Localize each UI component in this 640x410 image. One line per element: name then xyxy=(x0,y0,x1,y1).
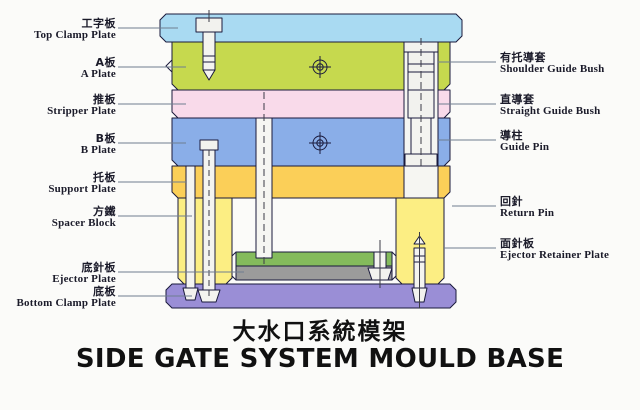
label-cn: 有托導套 xyxy=(500,52,640,63)
label-shoulder-guide-bush: 有托導套 Shoulder Guide Bush xyxy=(500,52,640,75)
diagram-title-chinese: 大水口系統模架 xyxy=(0,312,640,346)
label-en: Top Clamp Plate xyxy=(0,30,116,41)
diagram-title-english: SIDE GATE SYSTEM MOULD BASE xyxy=(0,344,640,374)
label-cn: 底針板 xyxy=(0,262,116,273)
label-en: Guide Pin xyxy=(500,142,640,153)
label-en: Ejector Retainer Plate xyxy=(500,250,640,261)
label-ejector-retainer-plate: 面針板 Ejector Retainer Plate xyxy=(500,238,640,261)
label-cn: 托板 xyxy=(0,172,116,183)
label-cn: B板 xyxy=(0,133,116,144)
ejector-pin-shaft xyxy=(203,148,215,290)
ejector-assembly-right-end xyxy=(392,252,396,280)
label-cn: 底板 xyxy=(0,286,116,297)
label-cn: 導柱 xyxy=(500,130,640,141)
ejector-pin-2 xyxy=(186,166,195,288)
label-ejector-plate: 底針板 Ejector Plate xyxy=(0,262,116,285)
label-cn: 回針 xyxy=(500,196,640,207)
label-return-pin: 回針 Return Pin xyxy=(500,196,640,219)
label-stripper-plate: 推板 Stripper Plate xyxy=(0,94,116,117)
label-top-clamp-plate: 工字板 Top Clamp Plate xyxy=(0,18,116,41)
label-en: Straight Guide Bush xyxy=(500,106,640,117)
cap-screw-shank xyxy=(203,32,215,70)
label-en: Shoulder Guide Bush xyxy=(500,64,640,75)
mould-base-diagram: 工字板 Top Clamp Plate A板 A Plate 推板 Stripp… xyxy=(0,0,640,410)
label-en: Support Plate xyxy=(0,184,116,195)
label-en: B Plate xyxy=(0,145,116,156)
label-en: Stripper Plate xyxy=(0,106,116,117)
label-cn: 方鐵 xyxy=(0,206,116,217)
ejector-pin-2-foot xyxy=(183,288,198,300)
label-b-plate: B板 B Plate xyxy=(0,133,116,156)
label-spacer-block: 方鐵 Spacer Block xyxy=(0,206,116,229)
label-cn: A板 xyxy=(0,57,116,68)
label-en: A Plate xyxy=(0,69,116,80)
label-a-plate: A板 A Plate xyxy=(0,57,116,80)
ejector-assembly-left-end xyxy=(232,252,236,280)
plate-a-notch xyxy=(166,60,172,72)
label-cn: 直導套 xyxy=(500,94,640,105)
label-guide-pin: 導柱 Guide Pin xyxy=(500,130,640,153)
label-en: Spacer Block xyxy=(0,218,116,229)
label-en: Return Pin xyxy=(500,208,640,219)
label-bottom-clamp-plate: 底板 Bottom Clamp Plate xyxy=(0,286,116,309)
label-cn: 面針板 xyxy=(500,238,640,249)
label-straight-guide-bush: 直導套 Straight Guide Bush xyxy=(500,94,640,117)
label-cn: 推板 xyxy=(0,94,116,105)
label-en: Bottom Clamp Plate xyxy=(0,298,116,309)
ejector-pin-head-top xyxy=(200,140,218,150)
label-support-plate: 托板 Support Plate xyxy=(0,172,116,195)
label-en: Ejector Plate xyxy=(0,274,116,285)
label-cn: 工字板 xyxy=(0,18,116,29)
